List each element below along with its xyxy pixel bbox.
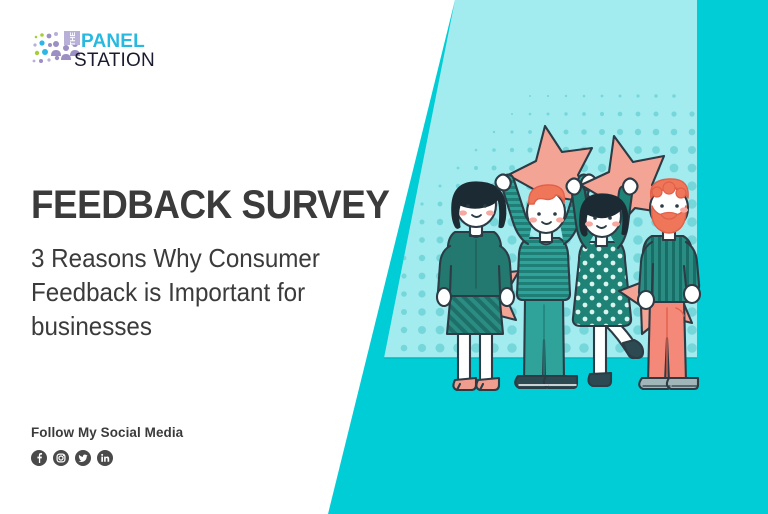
instagram-icon[interactable] [53,450,69,466]
linkedin-icon[interactable] [97,450,113,466]
feedback-survey-banner: THE PANEL STATION FEEDBACK SURVEY 3 Reas… [0,0,768,514]
social-icon-list [31,450,291,466]
facebook-icon[interactable] [31,450,47,466]
social-block: Follow My Social Media [31,424,291,466]
logo-station-text: STATION [74,50,155,71]
logo-dot-pattern: THE [33,31,80,63]
social-title: Follow My Social Media [31,424,281,441]
page-title: FEEDBACK SURVEY [31,183,362,227]
logo-the-text: THE [70,32,77,46]
page-subtitle: 3 Reasons Why Consumer Feedback is Impor… [31,241,389,343]
the-panel-station-logo[interactable]: THE PANEL STATION [31,28,163,74]
logo-panel-text: PANEL [81,31,145,52]
twitter-icon[interactable] [75,450,91,466]
headline-block: FEEDBACK SURVEY 3 Reasons Why Consumer F… [31,183,391,343]
